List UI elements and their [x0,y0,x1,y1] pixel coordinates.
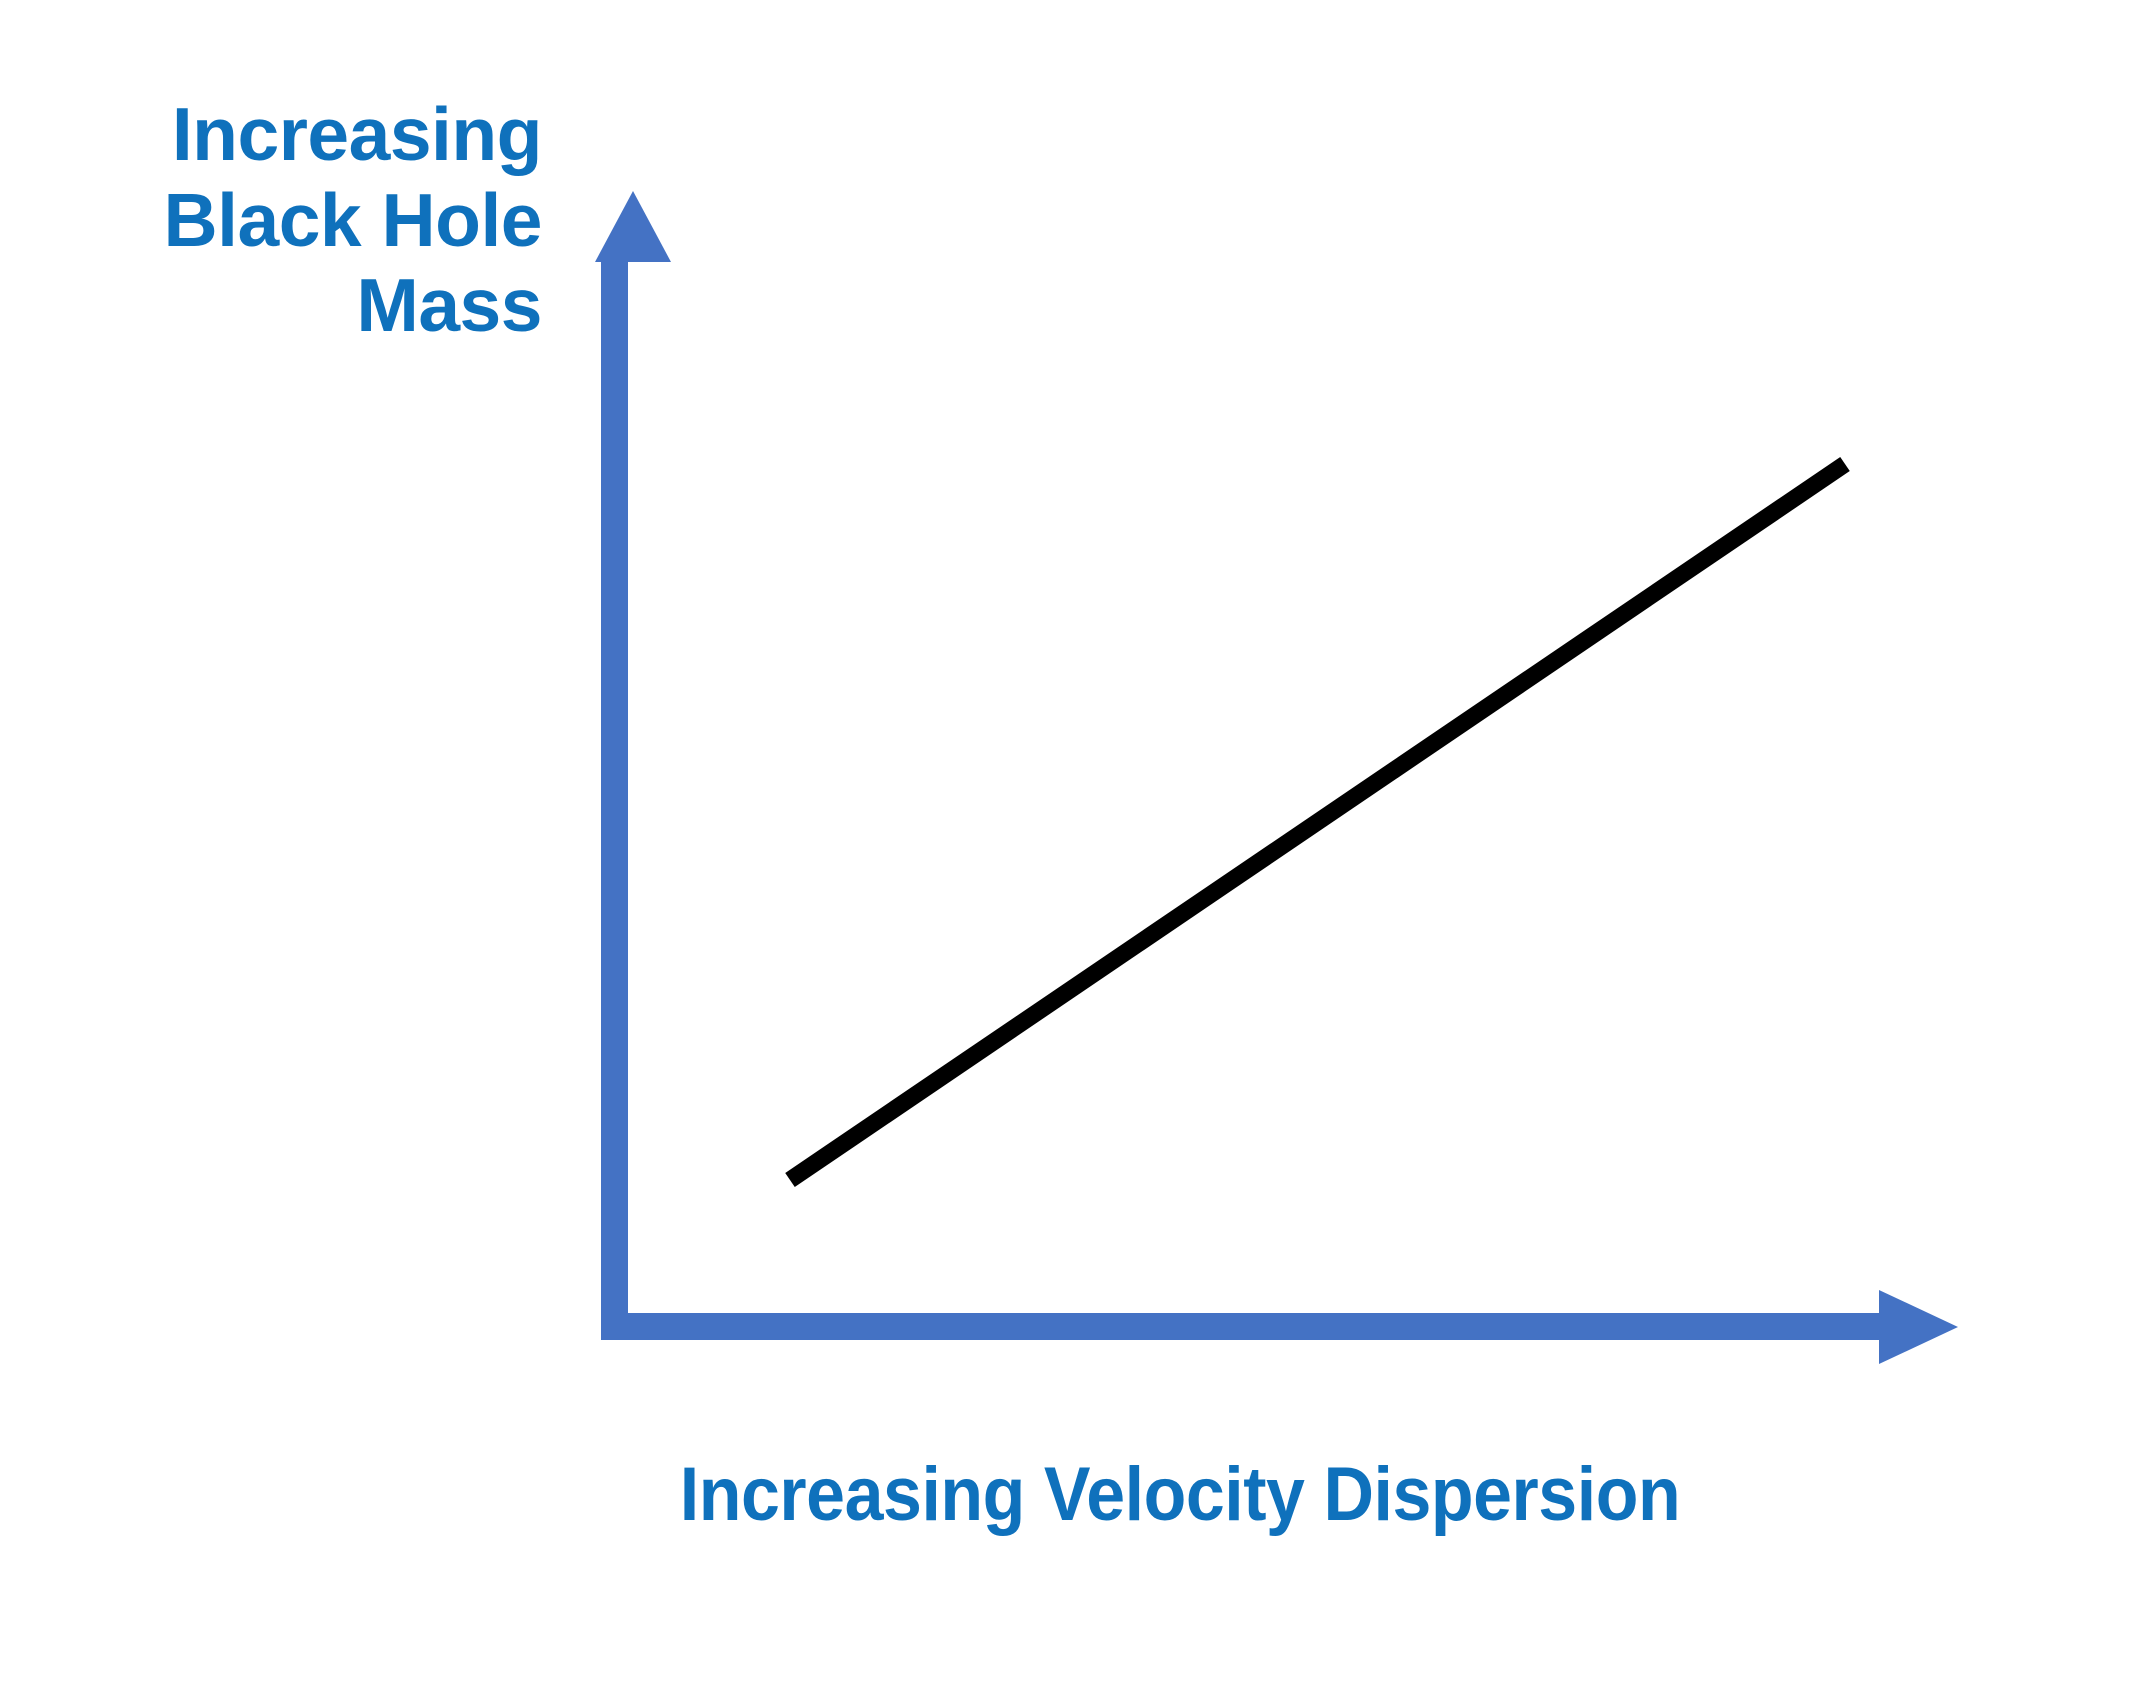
y-axis-shaft [601,252,628,1340]
y-axis-arrowhead-icon [595,191,671,262]
x-axis-arrowhead-icon [1879,1290,1958,1364]
trend-line [790,464,1845,1180]
y-axis-label: Increasing Black Hole Mass [60,92,542,349]
figure-canvas: Increasing Black Hole Mass Increasing Ve… [0,0,2130,1701]
x-axis-shaft [601,1313,1884,1340]
x-axis-label: Increasing Velocity Dispersion [490,1452,1870,1539]
